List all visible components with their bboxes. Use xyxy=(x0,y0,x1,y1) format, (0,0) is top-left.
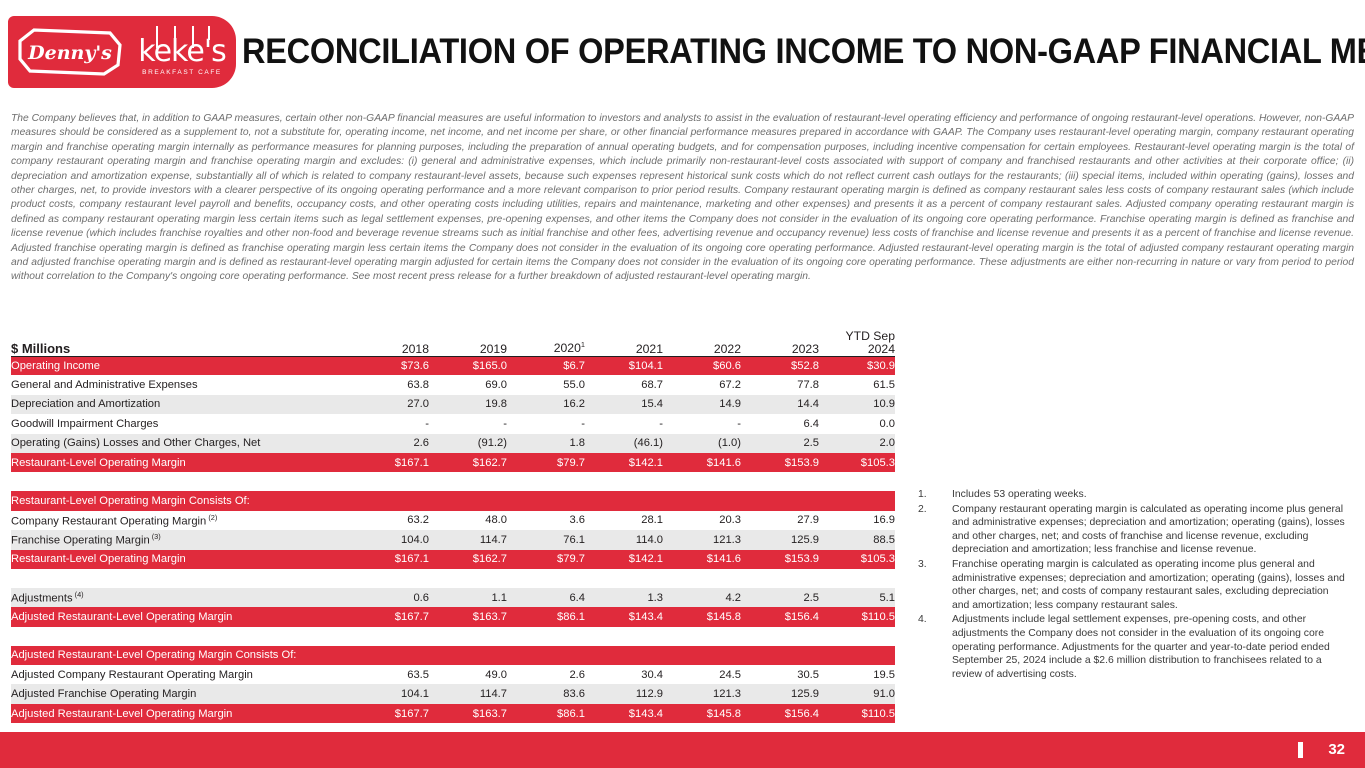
row-value: $163.7 xyxy=(429,607,507,626)
footnote-item: 1.Includes 53 operating weeks. xyxy=(918,488,1346,502)
row-value: 14.4 xyxy=(741,395,819,414)
financial-table-wrapper: $ Millions 2018 2019 20201 2021 2022 202… xyxy=(11,322,895,723)
row-label: General and Administrative Expenses xyxy=(11,375,351,394)
table-row: Adjusted Company Restaurant Operating Ma… xyxy=(11,665,895,684)
column-header-2020: 20201 xyxy=(507,322,585,356)
row-label: Restaurant-Level Operating Margin xyxy=(11,550,351,569)
row-value: (1.0) xyxy=(663,434,741,453)
row-value: 77.8 xyxy=(741,375,819,394)
row-value: 114.7 xyxy=(429,684,507,703)
row-value: 15.4 xyxy=(585,395,663,414)
row-value: 16.9 xyxy=(819,511,895,530)
row-value: 55.0 xyxy=(507,375,585,394)
table-row: General and Administrative Expenses63.86… xyxy=(11,375,895,394)
row-value: $141.6 xyxy=(663,550,741,569)
table-row: Operating Income$73.6$165.0$6.7$104.1$60… xyxy=(11,356,895,375)
row-value: $79.7 xyxy=(507,453,585,472)
row-value: 121.3 xyxy=(663,530,741,549)
row-value: - xyxy=(429,414,507,433)
row-value: 83.6 xyxy=(507,684,585,703)
column-header-2023: 2023 xyxy=(741,322,819,356)
footer-bar: 32 xyxy=(0,732,1365,768)
row-value: 19.5 xyxy=(819,665,895,684)
row-value: 76.1 xyxy=(507,530,585,549)
row-value: $105.3 xyxy=(819,453,895,472)
row-value: - xyxy=(663,414,741,433)
row-value: (91.2) xyxy=(429,434,507,453)
footnote-text: Includes 53 operating weeks. xyxy=(952,488,1346,502)
table-header-row: $ Millions 2018 2019 20201 2021 2022 202… xyxy=(11,322,895,356)
row-value: $167.1 xyxy=(351,453,429,472)
table-row: Restaurant-Level Operating Margin Consis… xyxy=(11,491,895,510)
row-label: Operating Income xyxy=(11,356,351,375)
row-value: $6.7 xyxy=(507,356,585,375)
table-row: Company Restaurant Operating Margin (2)6… xyxy=(11,511,895,530)
row-value: 91.0 xyxy=(819,684,895,703)
row-label: Company Restaurant Operating Margin (2) xyxy=(11,511,351,530)
row-value: $73.6 xyxy=(351,356,429,375)
row-value: 2.6 xyxy=(507,665,585,684)
row-value: 24.5 xyxy=(663,665,741,684)
footnote-number: 1. xyxy=(918,488,952,502)
table-row: Franchise Operating Margin (3)104.0114.7… xyxy=(11,530,895,549)
row-value: 27.9 xyxy=(741,511,819,530)
row-value: 69.0 xyxy=(429,375,507,394)
row-value: $162.7 xyxy=(429,453,507,472)
row-value: $142.1 xyxy=(585,550,663,569)
column-header-2020-text: 2020 xyxy=(554,342,581,356)
row-value: 2.6 xyxy=(351,434,429,453)
row-label: Operating (Gains) Losses and Other Charg… xyxy=(11,434,351,453)
ytd-line-1: YTD Sep xyxy=(846,329,895,343)
row-value: 4.2 xyxy=(663,588,741,607)
row-value: $153.9 xyxy=(741,453,819,472)
table-row-spacer xyxy=(11,472,895,491)
row-value: 28.1 xyxy=(585,511,663,530)
row-value: 61.5 xyxy=(819,375,895,394)
row-value: $153.9 xyxy=(741,550,819,569)
row-value: 68.7 xyxy=(585,375,663,394)
row-label: Adjusted Company Restaurant Operating Ma… xyxy=(11,665,351,684)
row-value: 114.7 xyxy=(429,530,507,549)
row-value: 30.4 xyxy=(585,665,663,684)
row-value: 114.0 xyxy=(585,530,663,549)
column-header-2018: 2018 xyxy=(351,322,429,356)
footnotes-list: 1.Includes 53 operating weeks.2.Company … xyxy=(918,488,1346,682)
row-value: 3.6 xyxy=(507,511,585,530)
svg-text:Denny's: Denny's xyxy=(27,42,112,64)
footnote-text: Adjustments include legal settlement exp… xyxy=(952,613,1346,681)
row-value: 63.5 xyxy=(351,665,429,684)
footnote-marker: (3) xyxy=(150,532,161,541)
row-label: Restaurant-Level Operating Margin xyxy=(11,453,351,472)
row-value: $86.1 xyxy=(507,607,585,626)
footnote-marker-1: 1 xyxy=(581,340,585,349)
table-row xyxy=(11,627,895,646)
row-value: $52.8 xyxy=(741,356,819,375)
footnote-item: 3.Franchise operating margin is calculat… xyxy=(918,558,1346,612)
column-header-2021: 2021 xyxy=(585,322,663,356)
row-value: $143.4 xyxy=(585,704,663,723)
table-row: Restaurant-Level Operating Margin$167.1$… xyxy=(11,550,895,569)
footnote-item: 2.Company restaurant operating margin is… xyxy=(918,503,1346,557)
table-row: Operating (Gains) Losses and Other Charg… xyxy=(11,434,895,453)
row-label: Franchise Operating Margin (3) xyxy=(11,530,351,549)
row-value: 88.5 xyxy=(819,530,895,549)
column-header-ytd-sep-2024: YTD Sep2024 xyxy=(819,322,895,356)
table-header: $ Millions 2018 2019 20201 2021 2022 202… xyxy=(11,322,895,356)
page-title: RECONCILIATION OF OPERATING INCOME TO NO… xyxy=(242,32,1281,72)
table-row: Goodwill Impairment Charges-----6.40.0 xyxy=(11,414,895,433)
row-label: Adjustments (4) xyxy=(11,588,351,607)
footnote-text: Company restaurant operating margin is c… xyxy=(952,503,1346,557)
table-row: Depreciation and Amortization27.019.816.… xyxy=(11,395,895,414)
row-value: $110.5 xyxy=(819,704,895,723)
table-section-header: Restaurant-Level Operating Margin Consis… xyxy=(11,491,895,510)
row-value: 2.0 xyxy=(819,434,895,453)
row-value: 27.0 xyxy=(351,395,429,414)
kekes-tagline: BREAKFAST CAFE xyxy=(134,69,230,76)
row-value: 1.8 xyxy=(507,434,585,453)
row-value: $60.6 xyxy=(663,356,741,375)
row-value: 2.5 xyxy=(741,434,819,453)
row-label: Adjusted Restaurant-Level Operating Marg… xyxy=(11,607,351,626)
column-header-millions: $ Millions xyxy=(11,322,351,356)
row-value: $86.1 xyxy=(507,704,585,723)
row-value: 49.0 xyxy=(429,665,507,684)
row-value: 125.9 xyxy=(741,530,819,549)
row-value: $162.7 xyxy=(429,550,507,569)
row-value: $79.7 xyxy=(507,550,585,569)
row-label: Depreciation and Amortization xyxy=(11,395,351,414)
financial-table: $ Millions 2018 2019 20201 2021 2022 202… xyxy=(11,322,895,723)
row-value: 10.9 xyxy=(819,395,895,414)
row-value: - xyxy=(507,414,585,433)
row-value: 14.9 xyxy=(663,395,741,414)
row-value: 112.9 xyxy=(585,684,663,703)
row-value: 0.6 xyxy=(351,588,429,607)
row-value: $110.5 xyxy=(819,607,895,626)
row-value: $145.8 xyxy=(663,704,741,723)
table-row: Adjusted Franchise Operating Margin104.1… xyxy=(11,684,895,703)
ytd-line-2: 2024 xyxy=(868,342,895,356)
row-value: 5.1 xyxy=(819,588,895,607)
row-value: 48.0 xyxy=(429,511,507,530)
row-value: $104.1 xyxy=(585,356,663,375)
row-value: 2.5 xyxy=(741,588,819,607)
row-value: $141.6 xyxy=(663,453,741,472)
row-value: 0.0 xyxy=(819,414,895,433)
row-value: $156.4 xyxy=(741,704,819,723)
table-row xyxy=(11,472,895,491)
table-body: Operating Income$73.6$165.0$6.7$104.1$60… xyxy=(11,356,895,723)
row-value: 125.9 xyxy=(741,684,819,703)
row-value: 19.8 xyxy=(429,395,507,414)
footnote-item: 4.Adjustments include legal settlement e… xyxy=(918,613,1346,681)
table-row: Adjusted Restaurant-Level Operating Marg… xyxy=(11,607,895,626)
table-row: Restaurant-Level Operating Margin$167.1$… xyxy=(11,453,895,472)
footer-tick-mark xyxy=(1298,742,1303,758)
footnote-marker: (2) xyxy=(206,513,217,522)
row-value: 121.3 xyxy=(663,684,741,703)
table-row: Adjustments (4)0.61.16.41.34.22.55.1 xyxy=(11,588,895,607)
slide-page: Denny's keke's BREAKFAST CAFE RECONCILIA… xyxy=(0,0,1365,768)
row-value: 30.5 xyxy=(741,665,819,684)
table-row: Adjusted Restaurant-Level Operating Marg… xyxy=(11,704,895,723)
page-number: 32 xyxy=(1328,741,1345,758)
row-value: $142.1 xyxy=(585,453,663,472)
row-value: $167.7 xyxy=(351,607,429,626)
intro-paragraph: The Company believes that, in addition t… xyxy=(11,112,1354,285)
row-value: 1.3 xyxy=(585,588,663,607)
row-value: $145.8 xyxy=(663,607,741,626)
row-value: 1.1 xyxy=(429,588,507,607)
row-value: $143.4 xyxy=(585,607,663,626)
column-header-2019: 2019 xyxy=(429,322,507,356)
footnote-marker: (4) xyxy=(73,590,84,599)
table-row-spacer xyxy=(11,627,895,646)
table-section-header: Adjusted Restaurant-Level Operating Marg… xyxy=(11,646,895,665)
row-label: Adjusted Restaurant-Level Operating Marg… xyxy=(11,704,351,723)
row-value: $163.7 xyxy=(429,704,507,723)
row-label: Adjusted Franchise Operating Margin xyxy=(11,684,351,703)
row-value: - xyxy=(585,414,663,433)
footnote-number: 2. xyxy=(918,503,952,557)
row-value: $167.1 xyxy=(351,550,429,569)
row-value: $165.0 xyxy=(429,356,507,375)
row-value: 6.4 xyxy=(507,588,585,607)
dennys-logo: Denny's xyxy=(18,27,122,77)
row-value: - xyxy=(351,414,429,433)
footnote-number: 3. xyxy=(918,558,952,612)
row-value: 16.2 xyxy=(507,395,585,414)
row-value: 104.0 xyxy=(351,530,429,549)
table-row: Adjusted Restaurant-Level Operating Marg… xyxy=(11,646,895,665)
table-row-spacer xyxy=(11,569,895,588)
footnote-number: 4. xyxy=(918,613,952,681)
row-value: $30.9 xyxy=(819,356,895,375)
row-value: 67.2 xyxy=(663,375,741,394)
brand-logo-block: Denny's keke's BREAKFAST CAFE xyxy=(8,16,236,88)
footnote-text: Franchise operating margin is calculated… xyxy=(952,558,1346,612)
column-header-2022: 2022 xyxy=(663,322,741,356)
row-value: 6.4 xyxy=(741,414,819,433)
row-value: 63.2 xyxy=(351,511,429,530)
row-value: 20.3 xyxy=(663,511,741,530)
row-value: 63.8 xyxy=(351,375,429,394)
row-value: 104.1 xyxy=(351,684,429,703)
row-value: $156.4 xyxy=(741,607,819,626)
row-value: (46.1) xyxy=(585,434,663,453)
row-value: $105.3 xyxy=(819,550,895,569)
kekes-logo: keke's BREAKFAST CAFE xyxy=(134,24,230,82)
kekes-wordmark: keke's xyxy=(134,36,230,68)
table-row xyxy=(11,569,895,588)
row-value: $167.7 xyxy=(351,704,429,723)
row-label: Goodwill Impairment Charges xyxy=(11,414,351,433)
